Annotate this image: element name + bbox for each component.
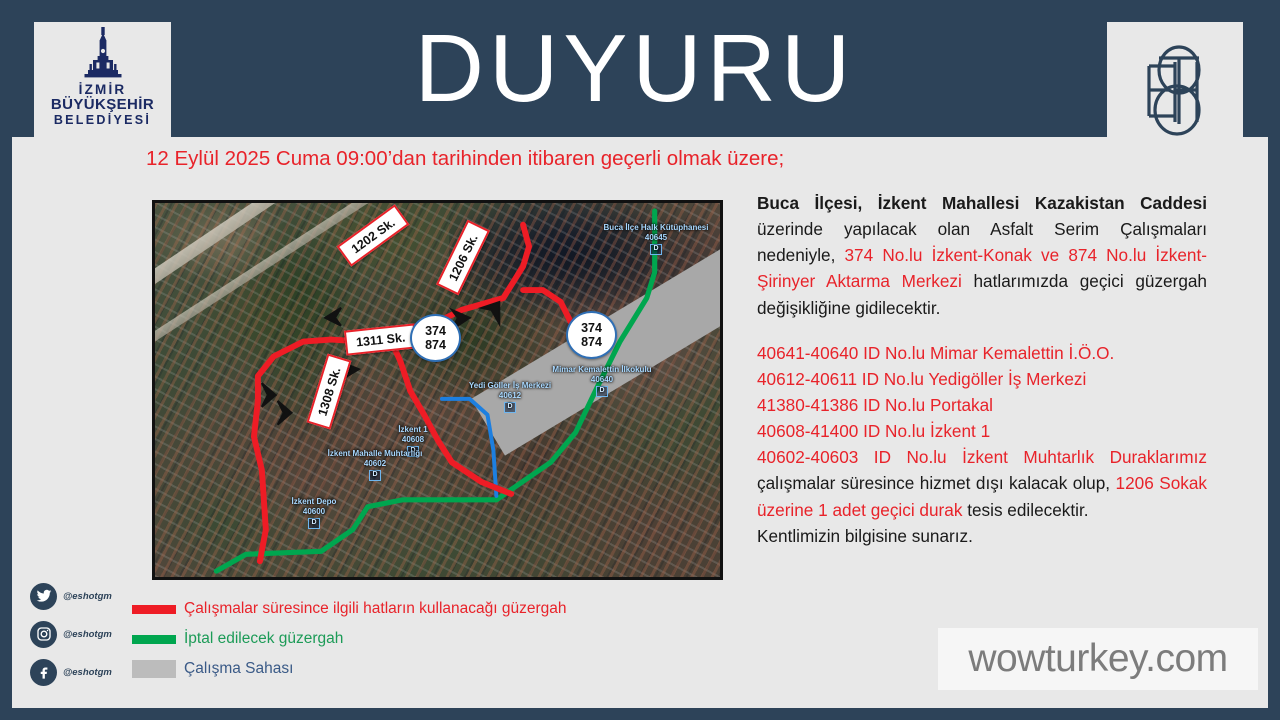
map-legend: Çalışmalar süresince ilgili hatların kul…: [132, 594, 732, 684]
line-badge-left: 374 874: [410, 314, 461, 362]
social-handle: @eshotgm: [63, 591, 112, 602]
stop-label-kutuphane: Buca İlçe Halk Kütüphanesi 40645 D: [591, 223, 721, 255]
logo-line-buyuksehir: BÜYÜKŞEHİR: [51, 97, 154, 114]
line-number-374: 374: [581, 321, 602, 335]
line-number-874: 874: [425, 338, 446, 352]
facebook-icon: [30, 659, 57, 686]
izmir-municipality-logo: İZMİR BÜYÜKŞEHİR BELEDİYESİ: [34, 22, 171, 137]
stop-label-izkent-muhtarlik: İzkent Mahalle Muhtarlığı 40602 D: [295, 449, 455, 481]
legend-label: İptal edilecek güzergah: [184, 630, 343, 648]
body-location-bold: Buca İlçesi, İzkent Mahallesi Kazakistan…: [757, 193, 1207, 213]
line-number-874: 874: [581, 335, 602, 349]
announcement-poster: İZMİR BÜYÜKŞEHİR BELEDİYESİ DUYURU 12 Ey…: [0, 0, 1280, 720]
stop-id: 40640: [591, 375, 613, 384]
twitter-icon: [30, 583, 57, 610]
eshot-monogram-icon: [1119, 34, 1231, 146]
affected-stop-line-2: 40612-40611 ID No.lu Yedigöller İş Merke…: [757, 366, 1207, 392]
stop-entry: 40641-40640 ID No.lu Mimar Kemalettin İ.…: [757, 343, 1114, 363]
line-badge-right: 374 874: [566, 311, 617, 359]
social-links: @eshotgm @eshotgm @eshotgm: [30, 578, 140, 692]
logo-line-izmir: İZMİR: [79, 83, 127, 97]
clock-tower-icon: [71, 26, 135, 82]
social-item-facebook[interactable]: @eshotgm: [30, 654, 140, 690]
stop-marker-icon: D: [308, 518, 319, 529]
alt-route-blue: [442, 399, 496, 496]
stop-entry: 40612-40611 ID No.lu Yedigöller İş Merke…: [757, 369, 1086, 389]
stop-name: Yedi Göller İş Merkezi: [469, 381, 551, 390]
stop-name: İzkent Depo: [292, 497, 337, 506]
line-number-374: 374: [425, 324, 446, 338]
body-p2-mid: çalışmalar süresince hizmet dışı kalacak…: [757, 473, 1116, 493]
stop-entry: 40602-40603 ID No.lu İzkent Muhtarlık Du…: [757, 447, 1207, 467]
affected-stop-line-4: 40608-41400 ID No.lu İzkent 1: [757, 418, 1207, 444]
page-title: DUYURU: [170, 6, 1100, 131]
social-item-twitter[interactable]: @eshotgm: [30, 578, 140, 614]
stop-name: İzkent Mahalle Muhtarlığı: [328, 449, 423, 458]
body-paragraph-2: 40602-40603 ID No.lu İzkent Muhtarlık Du…: [757, 444, 1207, 522]
legend-item-work-zone: Çalışma Sahası: [132, 654, 732, 684]
social-handle: @eshotgm: [63, 629, 112, 640]
stop-marker-icon: D: [369, 470, 380, 481]
stop-name: İzkent 1: [398, 425, 427, 434]
social-item-instagram[interactable]: @eshotgm: [30, 616, 140, 652]
stop-label-yedi-goller: Yedi Göller İş Merkezi 40612 D: [455, 381, 565, 413]
legend-item-cancelled-route: İptal edilecek güzergah: [132, 624, 732, 654]
stop-id: 40602: [364, 459, 386, 468]
social-handle: @eshotgm: [63, 667, 112, 678]
stop-marker-icon: D: [504, 402, 515, 413]
route-map[interactable]: 1202 Sk. 1206 Sk. 1311 Sk. 1308 Sk. 374 …: [152, 200, 723, 580]
affected-stop-line-3: 41380-41386 ID No.lu Portakal: [757, 392, 1207, 418]
stop-name: Buca İlçe Halk Kütüphanesi: [604, 223, 709, 232]
announcement-body: Buca İlçesi, İzkent Mahallesi Kazakistan…: [757, 190, 1207, 549]
stop-entry: 41380-41386 ID No.lu Portakal: [757, 395, 993, 415]
eshot-logo: [1107, 22, 1243, 158]
dateline: 12 Eylül 2025 Cuma 09:00’dan tarihinden …: [146, 147, 826, 171]
stop-marker-icon: D: [596, 386, 607, 397]
legend-label: Çalışma Sahası: [184, 660, 293, 678]
affected-stop-line-1: 40641-40640 ID No.lu Mimar Kemalettin İ.…: [757, 340, 1207, 366]
stop-label-izkent-depo: İzkent Depo 40600 D: [271, 497, 357, 529]
legend-item-active-route: Çalışmalar süresince ilgili hatların kul…: [132, 594, 732, 624]
logo-line-belediyesi: BELEDİYESİ: [54, 114, 151, 128]
body-paragraph-1: Buca İlçesi, İzkent Mahallesi Kazakistan…: [757, 190, 1207, 321]
stop-marker-icon: D: [650, 244, 661, 255]
watermark: wowturkey.com: [938, 628, 1258, 690]
stop-id: 40645: [645, 233, 667, 242]
stop-entry: 40608-41400 ID No.lu İzkent 1: [757, 421, 990, 441]
legend-label: Çalışmalar süresince ilgili hatların kul…: [184, 600, 567, 618]
stop-id: 40612: [499, 391, 521, 400]
body-paragraph-3: Kentlimizin bilgisine sunarız.: [757, 523, 1207, 549]
stop-name: Mimar Kemalettin İlkokulu: [552, 365, 651, 374]
watermark-text: wowturkey.com: [968, 637, 1227, 681]
body-p2-end: tesis edilecektir.: [962, 500, 1088, 520]
stop-id: 40608: [402, 435, 424, 444]
instagram-icon: [30, 621, 57, 648]
stop-id: 40600: [303, 507, 325, 516]
